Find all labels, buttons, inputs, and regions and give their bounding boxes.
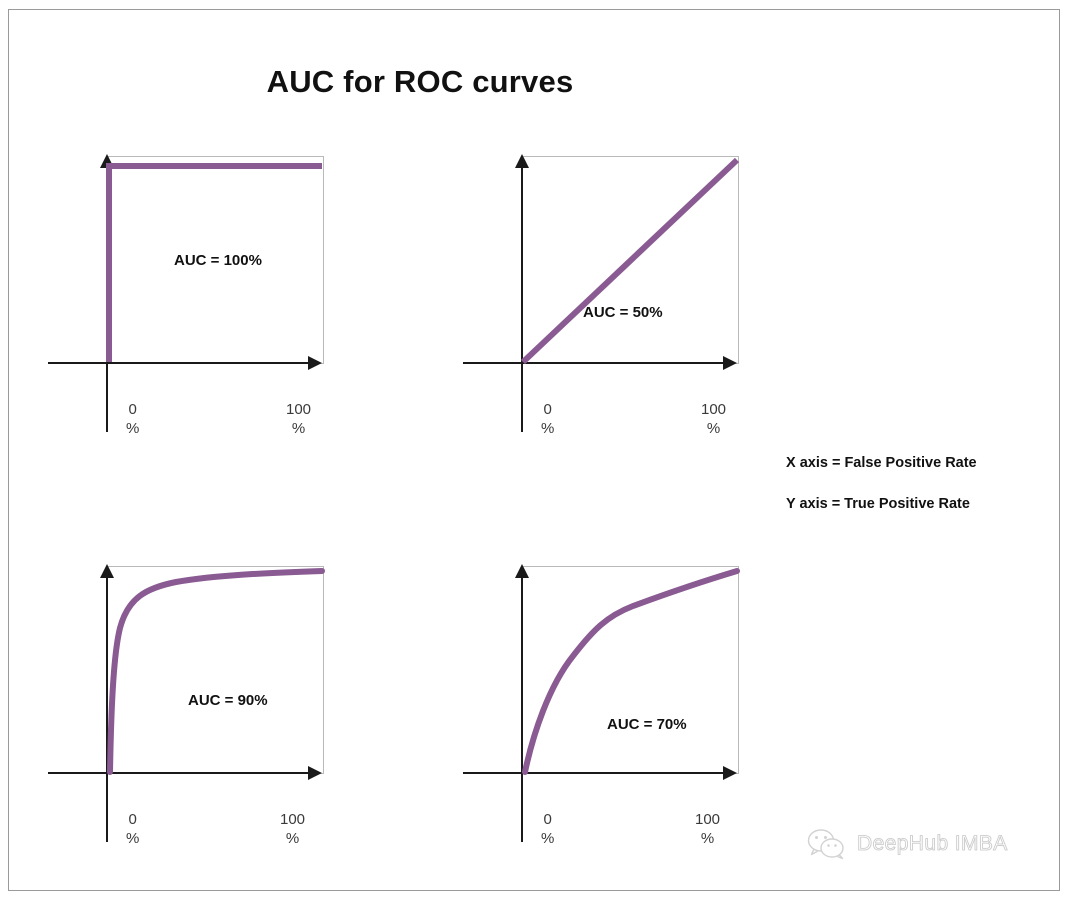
x-tick-right-unit: % [701, 830, 714, 847]
x-tick-right-value: 100 [701, 401, 726, 418]
auc-annotation: AUC = 100% [174, 252, 262, 269]
x-tick-right: 100 % [286, 400, 311, 438]
x-tick-right: 100 % [695, 810, 720, 848]
x-tick-left-unit: % [126, 830, 139, 847]
x-axis-definition: X axis = False Positive Rate [786, 455, 977, 471]
x-tick-left-value: 0 [129, 401, 137, 418]
x-tick-left-unit: % [541, 830, 554, 847]
auc-annotation: AUC = 90% [188, 692, 268, 709]
x-tick-right-unit: % [292, 420, 305, 437]
auc-annotation: AUC = 70% [607, 716, 687, 733]
x-tick-right: 100 % [280, 810, 305, 848]
slide-canvas: AUC for ROC curves AUC = 100% 0 % 100 % … [0, 0, 1071, 906]
roc-curve-auc-70 [521, 566, 739, 774]
x-tick-left-value: 0 [129, 811, 137, 828]
x-tick-right: 100 % [701, 400, 726, 438]
x-tick-right-unit: % [286, 830, 299, 847]
x-tick-right-unit: % [707, 420, 720, 437]
x-tick-left: 0 % [541, 400, 554, 438]
auc-annotation: AUC = 50% [583, 304, 663, 321]
x-tick-right-value: 100 [280, 811, 305, 828]
x-tick-left: 0 % [541, 810, 554, 848]
y-axis-definition: Y axis = True Positive Rate [786, 496, 970, 512]
watermark-text: DeepHub IMBA [857, 832, 1008, 856]
x-tick-left-unit: % [126, 420, 139, 437]
x-tick-left-value: 0 [544, 401, 552, 418]
roc-curve-auc-90 [106, 566, 324, 774]
x-tick-left-value: 0 [544, 811, 552, 828]
x-tick-right-value: 100 [695, 811, 720, 828]
roc-curve-auc-50 [521, 156, 739, 364]
wechat-icon [806, 828, 848, 860]
page-title: AUC for ROC curves [0, 64, 840, 100]
x-tick-left: 0 % [126, 810, 139, 848]
x-tick-left-unit: % [541, 420, 554, 437]
x-tick-left: 0 % [126, 400, 139, 438]
watermark: DeepHub IMBA [806, 828, 1008, 860]
x-tick-right-value: 100 [286, 401, 311, 418]
